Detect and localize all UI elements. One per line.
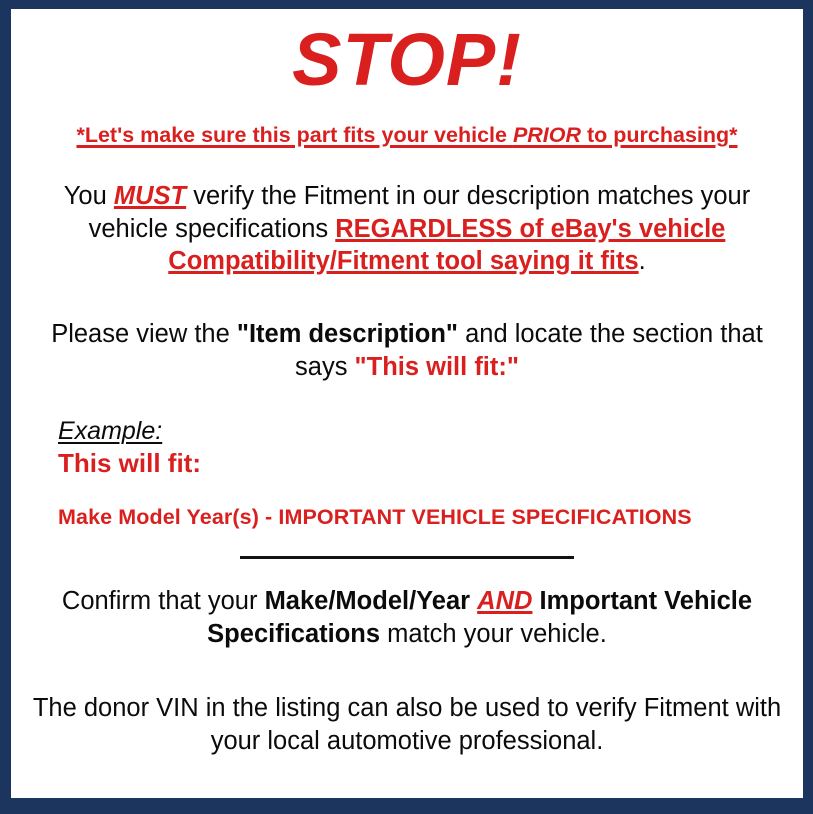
banner-emphasis-prior: PRIOR <box>513 123 581 147</box>
donor-vin-paragraph: The donor VIN in the listing can also be… <box>27 650 787 757</box>
must-part3: . <box>639 247 646 275</box>
confirm-part1: Confirm that your <box>62 587 265 615</box>
example-block: Example: This will fit: Make Model Year(… <box>11 383 803 530</box>
and-emphasis: AND <box>477 587 532 615</box>
example-label-row: Example: <box>58 417 803 446</box>
fitment-notice-card: STOP! *Let's make sure this part fits yo… <box>11 9 803 798</box>
banner-prefix: *Let's make sure this part fits your veh… <box>76 123 512 147</box>
confirm-paragraph: Confirm that your Make/Model/Year AND Im… <box>27 559 787 650</box>
item-description-emphasis: "Item description" <box>237 320 458 348</box>
fitment-notice-frame: STOP! *Let's make sure this part fits yo… <box>0 0 813 814</box>
this-will-fit-emphasis: "This will fit:" <box>355 353 519 381</box>
must-verify-paragraph: You MUST verify the Fitment in our descr… <box>27 148 787 278</box>
example-label: Example: <box>58 417 162 446</box>
confirm-part4: match your vehicle. <box>380 620 607 648</box>
thank-you-line: Thank you for confirming Fitment! <box>11 784 803 798</box>
must-emphasis: MUST <box>114 182 186 210</box>
make-model-year-emphasis: Make/Model/Year <box>265 587 471 615</box>
stop-title: STOP! <box>11 9 803 97</box>
please-view-paragraph: Please view the "Item description" and l… <box>27 278 787 383</box>
divider-wrapper <box>11 530 803 559</box>
banner-suffix: to purchasing* <box>581 123 737 147</box>
please-part1: Please view the <box>51 320 237 348</box>
fitment-banner: *Let's make sure this part fits your veh… <box>11 97 803 148</box>
example-fit-header: This will fit: <box>58 448 803 479</box>
confirm-part3 <box>532 587 539 615</box>
example-spec-line: Make Model Year(s) - IMPORTANT VEHICLE S… <box>58 505 803 530</box>
must-part1: You <box>64 182 114 210</box>
